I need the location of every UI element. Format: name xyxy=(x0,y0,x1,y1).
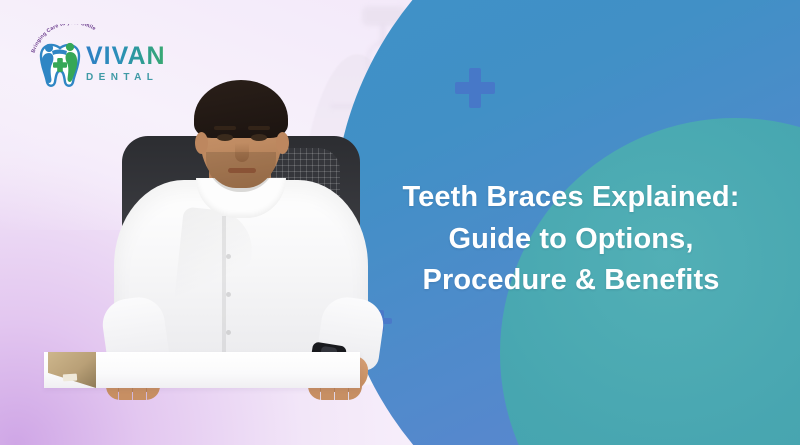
tooth-family-cross-icon xyxy=(36,38,84,88)
vivan-dental-logo[interactable]: Bringing Care to your Smile VIVAN DENTAL xyxy=(30,24,176,92)
right-eyebrow xyxy=(248,126,270,130)
headline-line-1: Teeth Braces Explained: xyxy=(364,177,778,218)
blog-banner: Bringing Care to your Smile VIVAN DENTAL… xyxy=(0,0,800,445)
dentist-portrait xyxy=(96,48,386,388)
left-eyebrow xyxy=(214,126,236,130)
medical-plus-icon xyxy=(455,68,495,108)
coat-lapel xyxy=(172,207,255,326)
headline-line-2: Guide to Options, xyxy=(364,219,778,260)
desk-object-label xyxy=(63,374,77,382)
left-eye xyxy=(217,134,233,141)
banner-headline: Teeth Braces Explained: Guide to Options… xyxy=(364,177,778,301)
headline-line-3: Procedure & Benefits xyxy=(364,260,778,301)
logo-brand-suffix: DENTAL xyxy=(86,72,166,83)
coat-button xyxy=(226,254,231,259)
coat-placket xyxy=(222,216,226,366)
hair xyxy=(194,80,288,138)
left-ear xyxy=(195,132,208,154)
logo-wordmark: VIVAN DENTAL xyxy=(86,44,166,83)
coat-button xyxy=(226,292,231,297)
right-ear xyxy=(276,132,289,154)
logo-brand-name: VIVAN xyxy=(86,44,166,69)
coat-button xyxy=(226,330,231,335)
nose xyxy=(235,143,249,162)
mouth xyxy=(228,168,256,173)
right-eye xyxy=(251,134,267,141)
